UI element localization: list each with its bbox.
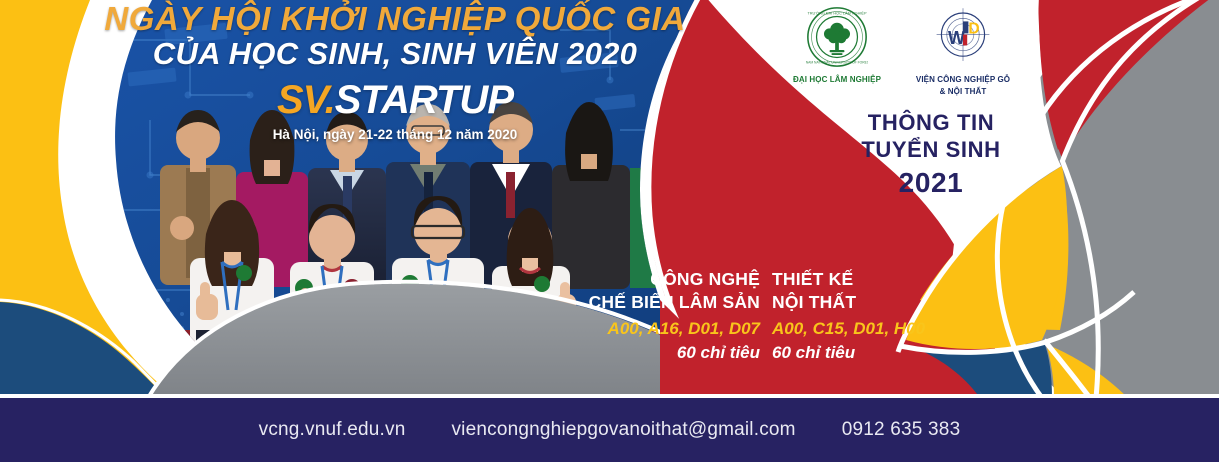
- major-1-quota: 60 chỉ tiêu: [560, 341, 760, 366]
- major-2-quota: 60 chỉ tiêu: [772, 341, 962, 366]
- admissions-banner: NGÀY HỘI KHỞI NGHIỆP QUỐC GIA CỦA HỌC SI…: [0, 0, 1219, 462]
- contact-phone[interactable]: 0912 635 383: [842, 419, 961, 441]
- major-item-2: THIẾT KẾ NỘI THẤT A00, C15, D01, H00 60 …: [772, 268, 962, 366]
- background-graphics: [0, 0, 1219, 462]
- majors-list: CÔNG NGHỆ CHẾ BIẾN LÂM SẢN A00, A16, D01…: [560, 268, 960, 378]
- vnuf-logo-caption: ĐẠI HỌC LÂM NGHIỆP: [781, 75, 893, 85]
- major-2-name-line1: THIẾT KẾ: [772, 268, 962, 291]
- contact-website[interactable]: vcng.vnuf.edu.vn: [259, 419, 406, 441]
- svg-text:D: D: [968, 20, 979, 37]
- major-item-1: CÔNG NGHỆ CHẾ BIẾN LÂM SẢN A00, A16, D01…: [560, 268, 760, 366]
- major-1-name-line1: CÔNG NGHỆ: [560, 268, 760, 291]
- major-2-name-line2: NỘI THẤT: [772, 291, 962, 314]
- wid-logo-caption-line2: & NỘI THẤT: [907, 87, 1019, 97]
- contact-footer: vcng.vnuf.edu.vn viencongnghiepgovanoith…: [0, 398, 1219, 462]
- major-1-codes: A00, A16, D01, D07: [560, 316, 760, 342]
- svg-text:VIETNAM NATIONAL UNIVERSITY OF: VIETNAM NATIONAL UNIVERSITY OF FORESTRY: [806, 61, 868, 65]
- admissions-heading-line1: THÔNG TIN: [838, 110, 1024, 137]
- wid-compass-logo: W D: [930, 6, 996, 68]
- institution-logos: TRƯỜNG ĐẠI HỌC LÂM NGHIỆP VIETNAM NATION…: [775, 6, 1025, 101]
- svg-text:TRƯỜNG ĐẠI HỌC LÂM NGHIỆP: TRƯỜNG ĐẠI HỌC LÂM NGHIỆP: [807, 11, 867, 16]
- svg-text:W: W: [948, 28, 965, 48]
- admissions-heading-line2: TUYỂN SINH: [838, 137, 1024, 164]
- admissions-heading: THÔNG TIN TUYỂN SINH 2021: [838, 110, 1024, 200]
- admissions-year: 2021: [838, 165, 1024, 200]
- wid-logo-block: W D VIỆN CÔNG NGHIỆP GỖ & NỘI THẤT: [907, 6, 1019, 101]
- wid-logo-caption-line1: VIỆN CÔNG NGHIỆP GỖ: [907, 75, 1019, 85]
- vnuf-logo-block: TRƯỜNG ĐẠI HỌC LÂM NGHIỆP VIETNAM NATION…: [781, 6, 893, 101]
- vnuf-tree-seal-logo: TRƯỜNG ĐẠI HỌC LÂM NGHIỆP VIETNAM NATION…: [806, 6, 868, 68]
- major-1-name-line2: CHẾ BIẾN LÂM SẢN: [560, 291, 760, 314]
- major-2-codes: A00, C15, D01, H00: [772, 316, 962, 342]
- contact-email[interactable]: viencongnghiepgovanoithat@gmail.com: [451, 419, 795, 441]
